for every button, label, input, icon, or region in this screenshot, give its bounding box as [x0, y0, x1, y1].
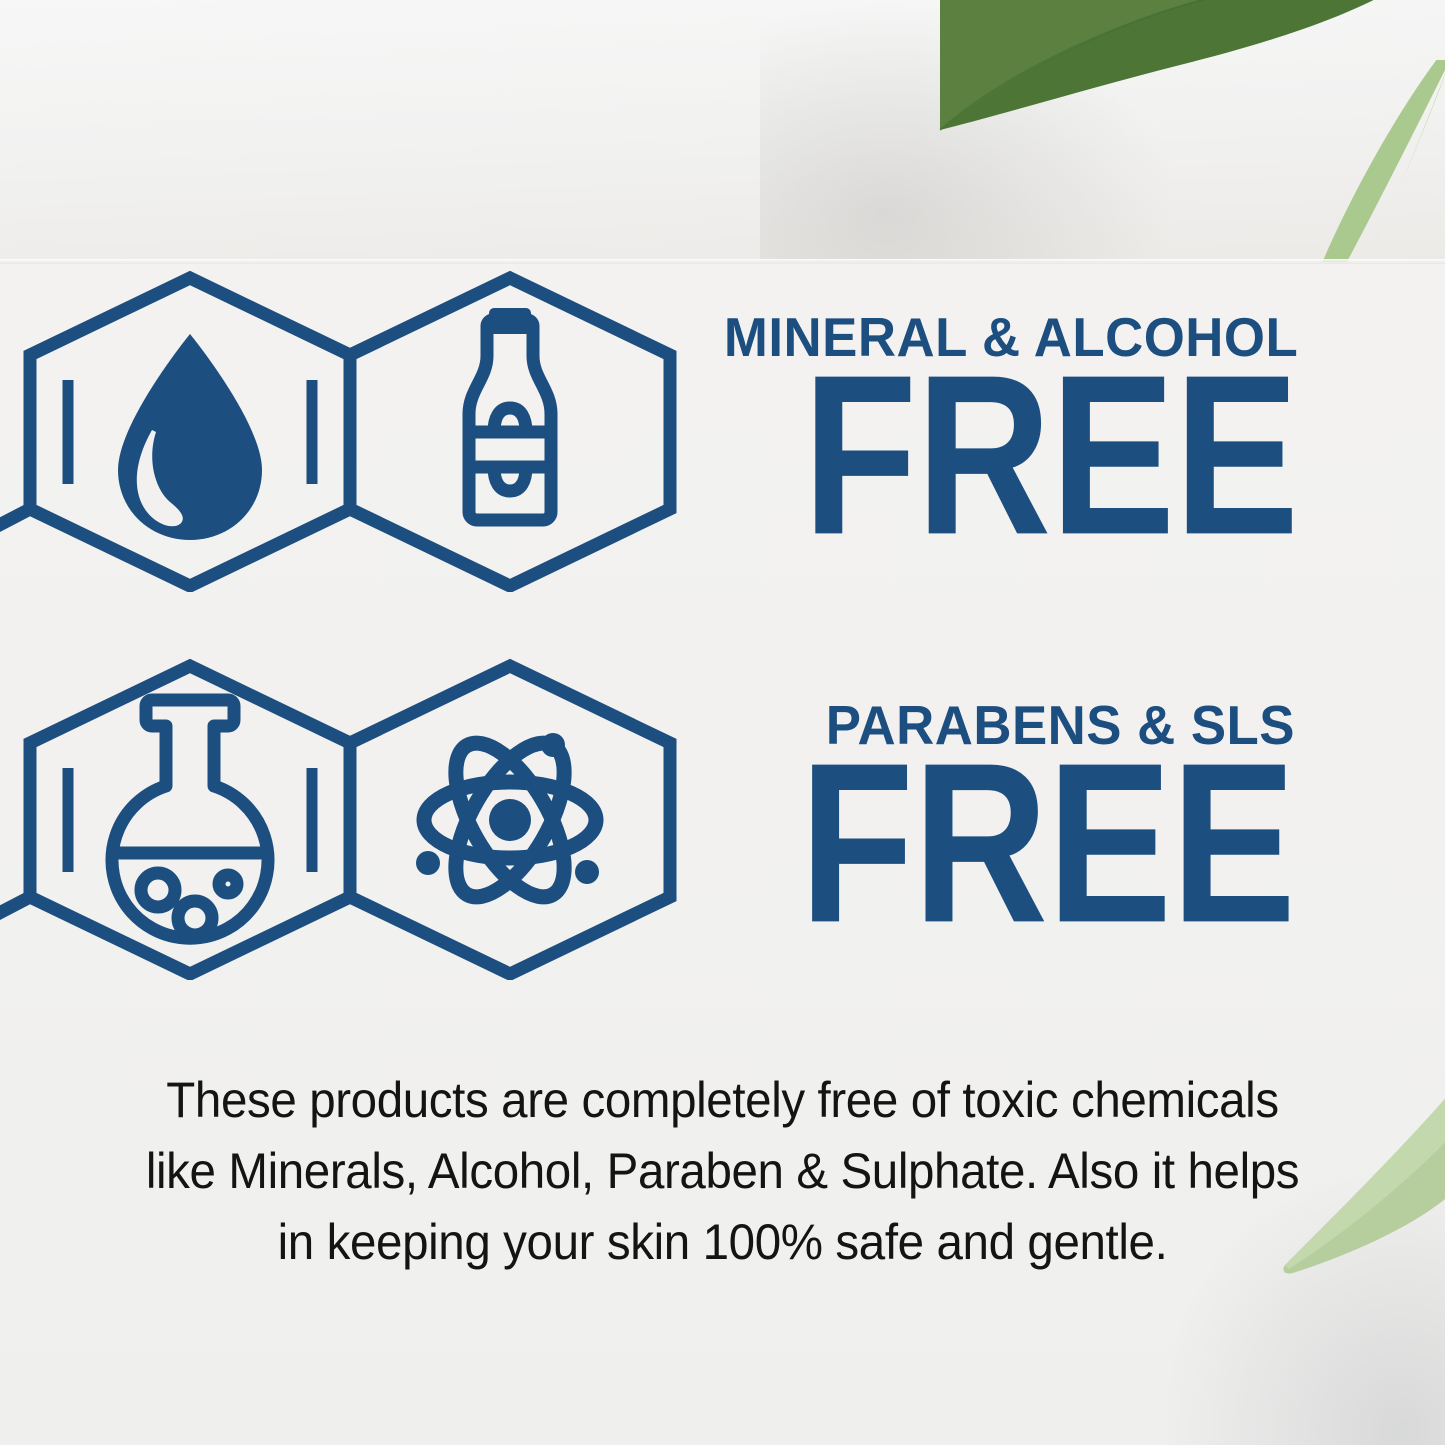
bottle-icon — [466, 308, 554, 520]
molecule-bond-stub-2 — [0, 897, 30, 922]
claim-row-mineral-alcohol: MINERAL & ALCOHOL FREE — [0, 262, 1320, 592]
leaf-far-right-icon — [1300, 60, 1445, 290]
hexagon-molecule-group-2 — [0, 650, 700, 980]
product-claim-banner: MINERAL & ALCOHOL FREE — [0, 0, 1445, 1445]
molecule-bond-stub — [0, 509, 30, 534]
body-copy-line-2: like Minerals, Alcohol, Paraben & Sulpha… — [93, 1136, 1352, 1207]
claim-headline-free-2: FREE — [777, 750, 1295, 937]
claim-text-block-2: PARABENS & SLS FREE — [700, 698, 1320, 931]
flask-icon — [112, 700, 268, 938]
water-droplet-icon — [118, 334, 262, 540]
claim-headline-free-1: FREE — [778, 362, 1298, 549]
claim-row-parabens-sls: PARABENS & SLS FREE — [0, 650, 1320, 980]
body-copy-line-1: These products are completely free of to… — [93, 1065, 1352, 1136]
hexagon-molecule-group-1 — [0, 262, 700, 592]
atom-icon — [416, 727, 599, 914]
body-copy-line-3: in keeping your skin 100% safe and gentl… — [93, 1207, 1352, 1278]
hexagon-icon-pair-1 — [0, 262, 700, 592]
claim-text-block-1: MINERAL & ALCOHOL FREE — [700, 310, 1323, 543]
body-copy-paragraph: These products are completely free of to… — [60, 1065, 1385, 1278]
hexagon-icon-pair-2 — [0, 650, 700, 980]
